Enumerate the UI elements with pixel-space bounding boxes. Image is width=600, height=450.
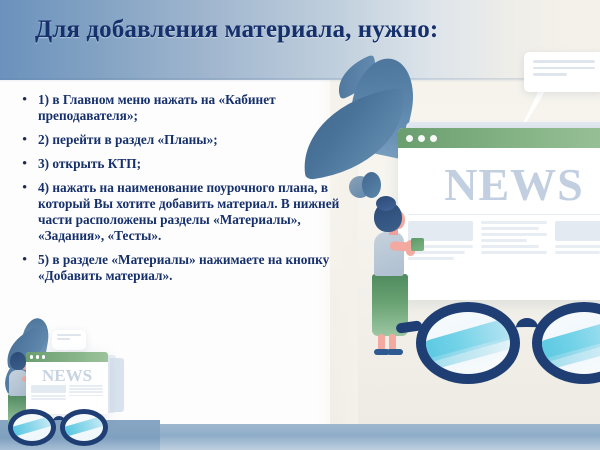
- content-text-line: [31, 395, 66, 397]
- content-thumbnail: [31, 385, 66, 393]
- speech-bubble: [524, 52, 600, 92]
- window-dot-icon[interactable]: [36, 355, 39, 358]
- list-item: • 1) в Главном меню нажать на «Кабинет п…: [18, 92, 348, 125]
- list-item: • 2) перейти в раздел «Планы»;: [18, 132, 348, 149]
- list-item: • 3) открыть КТП;: [18, 156, 348, 173]
- content-column: [481, 221, 546, 263]
- woman-hair: [10, 352, 26, 370]
- news-headline-small: NEWS: [31, 366, 103, 385]
- bullet-marker-icon: •: [18, 92, 38, 109]
- list-item-text: 2) перейти в раздел «Планы»;: [38, 132, 348, 148]
- list-item-text: 1) в Главном меню нажать на «Кабинет пре…: [38, 92, 348, 125]
- woman-hair-bun: [376, 196, 396, 211]
- bubble-text-line: [533, 60, 595, 63]
- browser-content: NEWS: [398, 148, 600, 300]
- browser-card-news[interactable]: NEWS: [26, 352, 108, 414]
- title-banner-shadow: [0, 78, 600, 82]
- cup-icon: [411, 238, 424, 251]
- window-dot-icon[interactable]: [30, 355, 33, 358]
- lens-reflection: [9, 412, 56, 437]
- window-dot-icon[interactable]: [430, 135, 437, 142]
- list-item: • 4) нажать на наименование поурочного п…: [18, 180, 348, 245]
- bullet-marker-icon: •: [18, 180, 38, 197]
- content-text-line: [481, 221, 546, 224]
- bullet-marker-icon: •: [18, 132, 38, 149]
- bubble-text-line: [533, 67, 595, 70]
- content-text-line: [69, 391, 104, 393]
- content-column: [555, 221, 600, 263]
- news-headline: NEWS: [408, 160, 600, 210]
- bullet-marker-icon: •: [18, 156, 38, 173]
- eyeglasses-small: [6, 406, 110, 446]
- eyeglasses-large: [412, 296, 600, 384]
- slide: Для добавления материала, нужно: NEWS: [0, 0, 600, 450]
- content-text-line: [555, 245, 600, 248]
- browser-window-news[interactable]: NEWS: [398, 128, 600, 300]
- eyeglasses-lens-right: [532, 302, 600, 384]
- content-text-line: [69, 388, 104, 390]
- eyeglasses-lens-left: [8, 409, 56, 446]
- bubble-text-line: [533, 73, 567, 76]
- list-item-text: 4) нажать на наименование поурочного пла…: [38, 180, 348, 245]
- content-text-line: [481, 251, 546, 254]
- browser-card-stack: [110, 358, 124, 412]
- content-text-line: [69, 395, 104, 397]
- content-text-line: [481, 227, 538, 230]
- content-text-line: [69, 385, 104, 387]
- browser-card-title-bar: [26, 352, 108, 362]
- content-text-line: [481, 239, 527, 242]
- woman-shoe: [387, 349, 403, 355]
- content-text-line: [481, 245, 538, 248]
- browser-title-bar: [398, 128, 600, 148]
- woman-torso: [374, 232, 404, 276]
- content-divider: [408, 214, 600, 215]
- lens-reflection: [61, 412, 108, 437]
- eyeglasses-lens-right: [60, 409, 108, 446]
- eyeglasses-lens-left: [416, 302, 520, 384]
- bubble-text-line: [57, 338, 70, 340]
- list-item-text: 5) в разделе «Материалы» нажимаете на кн…: [38, 252, 348, 284]
- bullet-marker-icon: •: [18, 252, 38, 269]
- woman-torso: [9, 370, 27, 396]
- content-thumbnail: [555, 221, 600, 241]
- content-text-line: [31, 398, 66, 400]
- page-title: Для добавления материала, нужно:: [35, 16, 575, 44]
- content-text-line: [555, 251, 600, 254]
- speech-bubble-small: [52, 330, 86, 350]
- window-dot-icon[interactable]: [42, 355, 45, 358]
- leaf-icon-seed-b: [362, 172, 381, 198]
- content-text-line: [481, 233, 546, 236]
- list-item-text: 3) открыть КТП;: [38, 156, 348, 172]
- list-item: • 5) в разделе «Материалы» нажимаете на …: [18, 252, 348, 284]
- window-dot-icon[interactable]: [406, 135, 413, 142]
- window-dot-icon[interactable]: [418, 135, 425, 142]
- bubble-text-line: [57, 334, 81, 336]
- bullet-list: • 1) в Главном меню нажать на «Кабинет п…: [18, 92, 348, 291]
